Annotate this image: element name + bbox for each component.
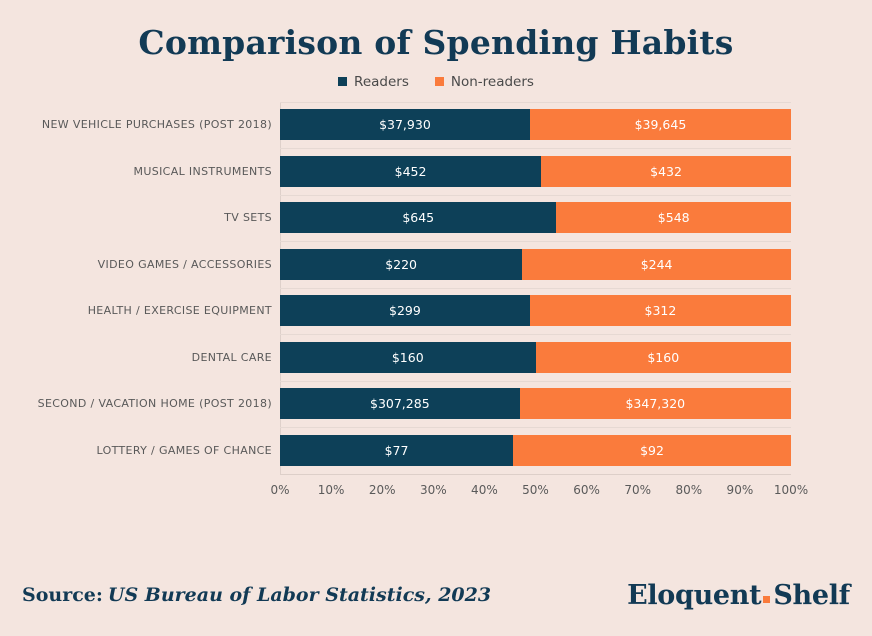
bar-value-label: $299 [389,303,421,318]
category-label: TV SETS [0,202,272,233]
category-label: DENTAL CARE [0,342,272,373]
chart-legend: Readers Non-readers [0,74,872,90]
square-marker-icon [338,77,347,86]
x-axis-tick-label: 30% [420,483,447,497]
gridline [280,102,791,103]
bar-segment-non-readers[interactable]: $160 [536,342,792,373]
plot-area: $37,930$39,645$452$432$645$548$220$244$2… [280,102,791,474]
bar-segment-readers[interactable]: $307,285 [280,388,520,419]
category-label: MUSICAL INSTRUMENTS [0,156,272,187]
logo-text-first: Eloquent [627,580,761,611]
bar-value-label: $160 [392,350,424,365]
x-axis-tick-label: 50% [522,483,549,497]
x-axis-tick-label: 0% [270,483,289,497]
bar-value-label: $37,930 [379,117,431,132]
chart-container: NEW VEHICLE PURCHASES (POST 2018)MUSICAL… [0,102,872,522]
bar-segment-readers[interactable]: $220 [280,249,522,280]
bar-segment-readers[interactable]: $77 [280,435,513,466]
footer: Source:US Bureau of Labor Statistics, 20… [0,570,872,636]
source-note: Source:US Bureau of Labor Statistics, 20… [22,584,491,606]
source-citation: US Bureau of Labor Statistics, 2023 [103,584,491,606]
bar-segment-non-readers[interactable]: $548 [556,202,791,233]
square-marker-icon [435,77,444,86]
category-label: VIDEO GAMES / ACCESSORIES [0,249,272,280]
x-axis-tick-label: 70% [624,483,651,497]
bar-segment-non-readers[interactable]: $432 [541,156,791,187]
gridline [280,334,791,335]
bar-value-label: $307,285 [370,396,430,411]
x-axis-tick-label: 40% [471,483,498,497]
bar-segment-non-readers[interactable]: $347,320 [520,388,791,419]
bar-row[interactable]: $299$312 [280,295,791,326]
x-axis-tick-label: 100% [774,483,808,497]
bar-value-label: $160 [647,350,679,365]
bar-value-label: $77 [385,443,409,458]
x-axis-tick-label: 10% [318,483,345,497]
bar-value-label: $39,645 [635,117,687,132]
bar-value-label: $244 [641,257,673,272]
legend-label-readers: Readers [354,74,409,90]
gridline [280,381,791,382]
bar-segment-readers[interactable]: $37,930 [280,109,530,140]
source-prefix: Source: [22,584,103,606]
x-axis-tick-label: 20% [369,483,396,497]
bar-segment-non-readers[interactable]: $92 [513,435,791,466]
bar-segment-non-readers[interactable]: $244 [522,249,791,280]
bar-value-label: $645 [402,210,434,225]
category-label: HEALTH / EXERCISE EQUIPMENT [0,295,272,326]
legend-item-non-readers[interactable]: Non-readers [435,74,534,90]
bar-row[interactable]: $307,285$347,320 [280,388,791,419]
bar-segment-non-readers[interactable]: $39,645 [530,109,791,140]
x-axis-line [280,474,791,475]
gridline [280,241,791,242]
gridline [280,288,791,289]
bar-value-label: $312 [645,303,677,318]
bar-segment-readers[interactable]: $452 [280,156,541,187]
x-axis-tick-label: 80% [675,483,702,497]
bar-row[interactable]: $220$244 [280,249,791,280]
logo-text-second: Shelf [773,580,850,611]
bar-value-label: $220 [385,257,417,272]
legend-item-readers[interactable]: Readers [338,74,409,90]
bar-row[interactable]: $160$160 [280,342,791,373]
bar-segment-non-readers[interactable]: $312 [530,295,791,326]
bar-value-label: $452 [395,164,427,179]
gridline [280,148,791,149]
x-axis-tick-label: 90% [727,483,754,497]
category-label: NEW VEHICLE PURCHASES (POST 2018) [0,109,272,140]
bar-row[interactable]: $77$92 [280,435,791,466]
bar-segment-readers[interactable]: $299 [280,295,530,326]
x-axis-tick-label: 60% [573,483,600,497]
gridline [280,195,791,196]
category-label: LOTTERY / GAMES OF CHANCE [0,435,272,466]
bar-row[interactable]: $37,930$39,645 [280,109,791,140]
category-label: SECOND / VACATION HOME (POST 2018) [0,388,272,419]
bar-row[interactable]: $452$432 [280,156,791,187]
bar-value-label: $347,320 [625,396,685,411]
bar-segment-readers[interactable]: $160 [280,342,536,373]
bar-value-label: $432 [650,164,682,179]
gridline [280,427,791,428]
x-axis: 0%10%20%30%40%50%60%70%80%90%100% [280,474,791,520]
bar-value-label: $92 [640,443,664,458]
bar-segment-readers[interactable]: $645 [280,202,556,233]
legend-label-non-readers: Non-readers [451,74,534,90]
bar-value-label: $548 [658,210,690,225]
category-axis-labels: NEW VEHICLE PURCHASES (POST 2018)MUSICAL… [0,102,272,474]
bar-row[interactable]: $645$548 [280,202,791,233]
page-title: Comparison of Spending Habits [0,0,872,61]
brand-logo[interactable]: Eloquent Shelf [627,580,850,611]
orange-square-dot-icon [763,596,770,603]
